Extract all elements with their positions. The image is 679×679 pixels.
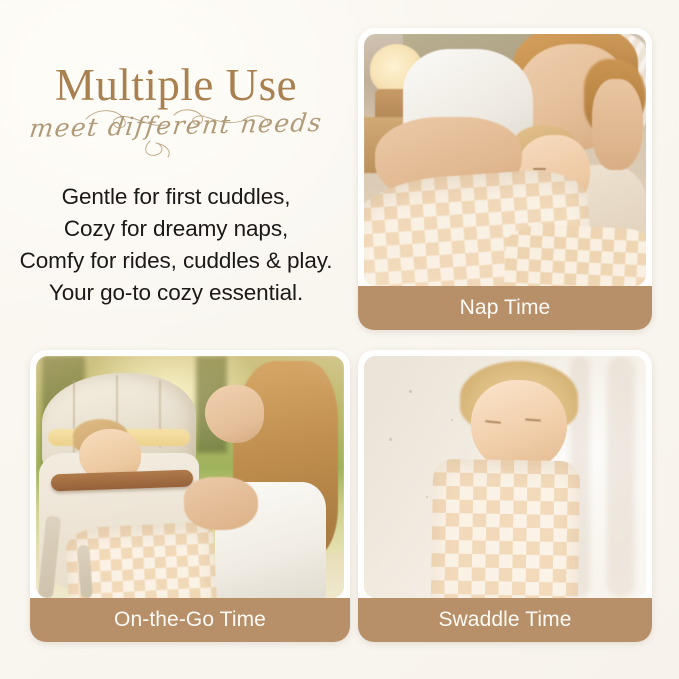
page-title: Multiple Use bbox=[0, 62, 352, 109]
sheet-speck bbox=[409, 390, 412, 393]
scene-on-the-go-time bbox=[36, 356, 344, 598]
caption-swaddle-time: Swaddle Time bbox=[358, 598, 652, 642]
card-nap-time[interactable]: Nap Time bbox=[358, 28, 652, 330]
page-subtitle: meet different needs bbox=[28, 108, 324, 143]
sheet-fold-1 bbox=[607, 356, 635, 598]
photo-swaddle-time bbox=[364, 356, 646, 598]
photo-on-the-go-time bbox=[36, 356, 344, 598]
photo-nap-time bbox=[364, 34, 646, 286]
card-on-the-go-time[interactable]: On-the-Go Time bbox=[30, 350, 350, 642]
subtitle-wrap: meet different needs bbox=[0, 111, 352, 165]
mother-face bbox=[205, 385, 264, 443]
text-panel: Multiple Use meet different needs Gentle… bbox=[0, 62, 352, 309]
benefit-line-4: Your go-to cozy essential. bbox=[0, 277, 352, 309]
scene-swaddle-time bbox=[364, 356, 646, 598]
baby-face bbox=[471, 380, 567, 472]
benefit-lines: Gentle for first cuddles, Cozy for dream… bbox=[0, 181, 352, 309]
scene-nap-time bbox=[364, 34, 646, 286]
infographic-page: Multiple Use meet different needs Gentle… bbox=[0, 0, 679, 679]
benefit-line-2: Cozy for dreamy naps, bbox=[0, 213, 352, 245]
mother-upper-arm bbox=[592, 79, 643, 170]
caption-on-the-go-time: On-the-Go Time bbox=[30, 598, 350, 642]
checkered-blanket-secondary bbox=[503, 222, 646, 286]
benefit-line-1: Gentle for first cuddles, bbox=[0, 181, 352, 213]
benefit-line-3: Comfy for rides, cuddles & play. bbox=[0, 245, 352, 277]
checkered-blanket bbox=[430, 459, 579, 598]
mother-arm bbox=[184, 477, 258, 530]
baby-eye bbox=[533, 168, 546, 170]
caption-nap-time: Nap Time bbox=[358, 286, 652, 330]
card-swaddle-time[interactable]: Swaddle Time bbox=[358, 350, 652, 642]
